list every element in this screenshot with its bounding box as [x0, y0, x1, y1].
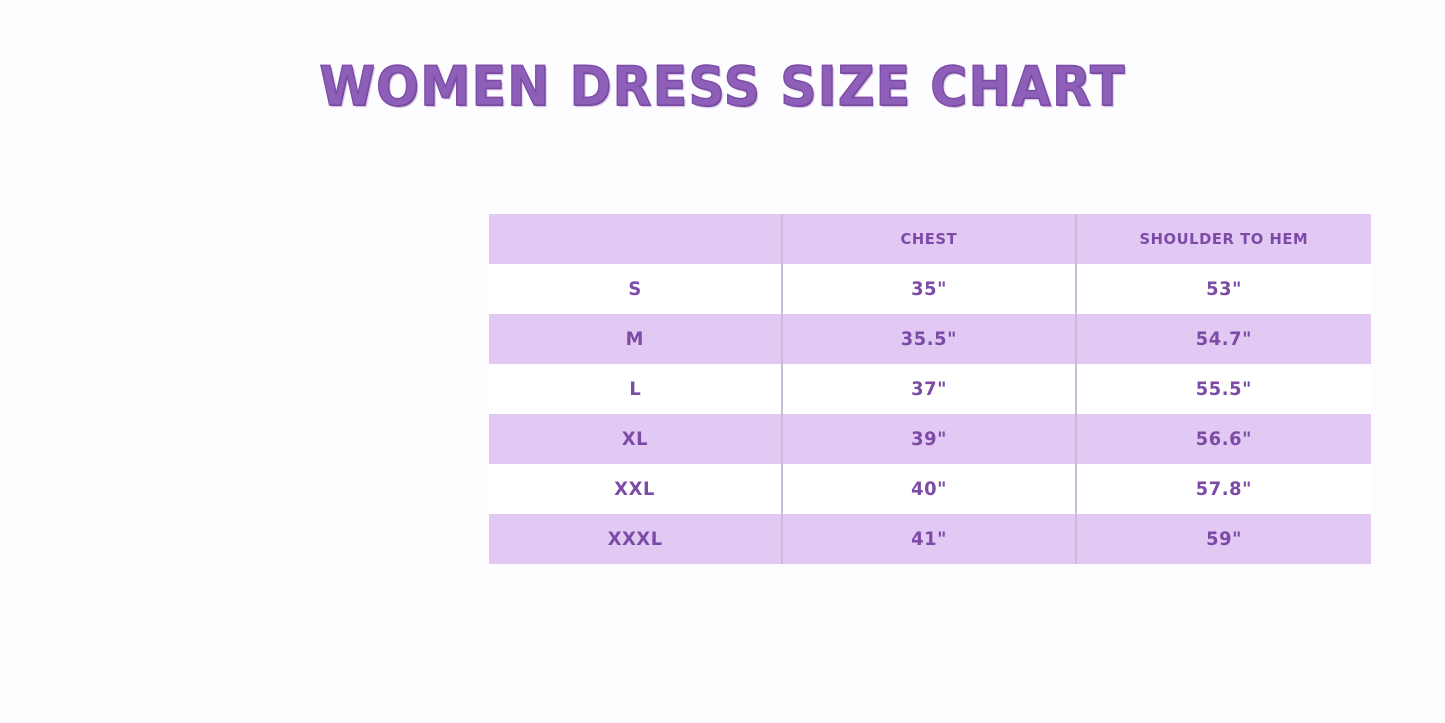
cell-chest: 40" — [782, 464, 1076, 514]
cell-chest: 35" — [782, 264, 1076, 314]
size-chart-page: { "document": { "title": "WOMEN DRESS SI… — [0, 0, 1445, 723]
cell-chest-value: 40" — [911, 478, 947, 500]
cell-chest: 35.5" — [782, 314, 1076, 364]
table-row: S 35" 53" — [489, 264, 1371, 314]
table-header: CHEST SHOULDER TO HEM — [489, 214, 1371, 264]
cell-size-value: XXL — [615, 478, 656, 500]
cell-shoulder-to-hem-value: 56.6" — [1196, 428, 1252, 450]
cell-chest: 39" — [782, 414, 1076, 464]
table-row: L 37" 55.5" — [489, 364, 1371, 414]
cell-shoulder-to-hem: 54.7" — [1076, 314, 1371, 364]
cell-shoulder-to-hem-value: 54.7" — [1196, 328, 1252, 350]
table-body: S 35" 53" M 35.5" 54.7" L 37" 55.5" XL 3… — [489, 264, 1371, 564]
cell-chest-value: 37" — [911, 378, 947, 400]
cell-chest-value: 35.5" — [901, 328, 957, 350]
page-title-container: WOMEN DRESS SIZE CHART — [0, 58, 1445, 116]
cell-shoulder-to-hem-value: 59" — [1206, 528, 1242, 550]
cell-shoulder-to-hem-value: 55.5" — [1196, 378, 1252, 400]
cell-shoulder-to-hem: 53" — [1076, 264, 1371, 314]
cell-chest-value: 41" — [911, 528, 947, 550]
cell-shoulder-to-hem-value: 57.8" — [1196, 478, 1252, 500]
page-title: WOMEN DRESS SIZE CHART — [319, 58, 1125, 116]
cell-shoulder-to-hem: 59" — [1076, 514, 1371, 564]
cell-shoulder-to-hem: 56.6" — [1076, 414, 1371, 464]
cell-size: XXL — [489, 464, 782, 514]
table-header-row: CHEST SHOULDER TO HEM — [489, 214, 1371, 264]
size-chart-table: CHEST SHOULDER TO HEM S 35" 53" M 35.5" … — [489, 214, 1371, 564]
column-header-chest: CHEST — [782, 214, 1076, 264]
cell-chest-value: 39" — [911, 428, 947, 450]
column-header-chest-label: CHEST — [901, 230, 958, 248]
column-header-shoulder-to-hem-label: SHOULDER TO HEM — [1140, 230, 1309, 248]
cell-size: XXXL — [489, 514, 782, 564]
cell-size-value: S — [628, 278, 641, 300]
cell-size-value: XL — [622, 428, 648, 450]
cell-shoulder-to-hem: 55.5" — [1076, 364, 1371, 414]
cell-size-value: M — [626, 328, 644, 350]
cell-size: L — [489, 364, 782, 414]
column-header-size — [489, 214, 782, 264]
cell-size: XL — [489, 414, 782, 464]
table-row: XL 39" 56.6" — [489, 414, 1371, 464]
cell-shoulder-to-hem: 57.8" — [1076, 464, 1371, 514]
cell-chest: 37" — [782, 364, 1076, 414]
cell-shoulder-to-hem-value: 53" — [1206, 278, 1242, 300]
cell-chest-value: 35" — [911, 278, 947, 300]
column-header-shoulder-to-hem: SHOULDER TO HEM — [1076, 214, 1371, 264]
table-row: XXL 40" 57.8" — [489, 464, 1371, 514]
cell-chest: 41" — [782, 514, 1076, 564]
cell-size-value: XXXL — [608, 528, 663, 550]
cell-size: S — [489, 264, 782, 314]
cell-size-value: L — [629, 378, 641, 400]
table-row: M 35.5" 54.7" — [489, 314, 1371, 364]
cell-size: M — [489, 314, 782, 364]
table-row: XXXL 41" 59" — [489, 514, 1371, 564]
